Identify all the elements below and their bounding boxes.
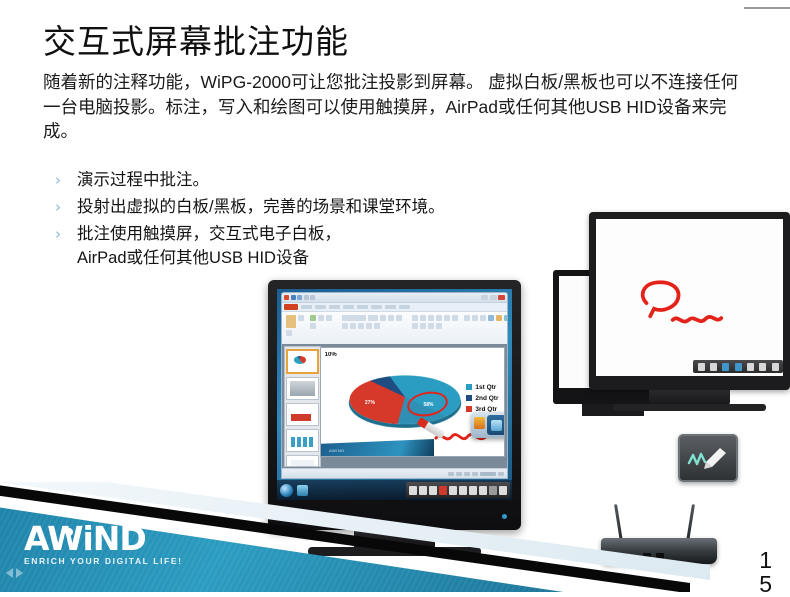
blackboard-icon[interactable] [710, 363, 717, 371]
legend-swatch-icon [466, 406, 472, 412]
numbering-icon[interactable] [420, 315, 426, 321]
port-icon [656, 553, 664, 561]
decrease-indent-icon[interactable] [428, 315, 434, 321]
chevron-down-icon[interactable] [310, 295, 315, 300]
bullets-icon[interactable] [412, 315, 418, 321]
list-item-label: 演示过程中批注。 [77, 168, 209, 192]
pie-chart-body [343, 375, 467, 423]
awind-letters-nd: ND [93, 519, 146, 558]
pie-chart [350, 372, 460, 422]
main-display-screen: 10% 27% 58% 1st Qtr 2nd Qtr [277, 289, 512, 500]
select-region-icon[interactable] [409, 486, 417, 495]
page-number: 1 5 [759, 548, 772, 596]
slide-thumbnail-pane[interactable] [284, 346, 321, 467]
reading-view-icon[interactable] [464, 472, 470, 476]
pointer-icon[interactable] [449, 486, 457, 495]
slide-thumbnail[interactable] [286, 455, 319, 467]
grid-thumb-icon [291, 437, 313, 447]
router-ports [643, 553, 664, 561]
header-rule [744, 7, 790, 9]
play-icon[interactable] [491, 420, 502, 431]
photo-thumb-icon [290, 381, 315, 396]
highlighter-icon[interactable] [479, 486, 487, 495]
awind-letter-a: A [24, 519, 47, 558]
replace-icon[interactable] [496, 315, 502, 321]
antenna-icon [614, 504, 623, 542]
whiteboard-screen [596, 219, 783, 376]
slide-thumbnail[interactable] [286, 429, 319, 452]
ribbon-group-drawing[interactable] [464, 315, 486, 321]
tab-slideshow[interactable] [371, 305, 382, 309]
awind-letter-i: i [82, 519, 92, 558]
minimize-icon[interactable] [481, 295, 488, 300]
antenna-icon [686, 504, 695, 542]
justify-icon[interactable] [420, 323, 426, 329]
powerpoint-status-bar[interactable] [282, 468, 507, 478]
main-display: 10% 27% 58% 1st Qtr 2nd Qtr [268, 280, 521, 530]
text-direction-icon[interactable] [436, 323, 442, 329]
port-icon [643, 553, 651, 561]
legend-label: 2nd Qtr [475, 395, 498, 402]
pen-icon[interactable] [429, 486, 437, 495]
bold-icon[interactable] [396, 315, 402, 321]
legend-label: 1st Qtr [475, 384, 496, 391]
color-icon[interactable] [439, 486, 447, 495]
highlighter-icon[interactable] [747, 363, 754, 371]
snapshot-icon[interactable] [419, 486, 427, 495]
color-icon[interactable] [735, 363, 742, 371]
arrange-icon[interactable] [472, 315, 478, 321]
awind-logo: AWiND ENRICH YOUR DIGITAL LIFE! [24, 522, 183, 566]
slide-thumbnail[interactable] [286, 377, 319, 400]
increase-indent-icon[interactable] [436, 315, 442, 321]
columns-icon[interactable] [428, 323, 434, 329]
product-photo: 10% 27% 58% 1st Qtr 2nd Qtr [268, 212, 790, 572]
eraser-icon[interactable] [759, 363, 766, 371]
slide-thumbnail[interactable] [286, 403, 319, 426]
floating-toolbar-buttons[interactable] [487, 415, 505, 435]
toolbar-logo-icon[interactable] [474, 417, 485, 429]
whiteboard-ink-annotation [596, 219, 783, 376]
awind-wordmark: AWiND [24, 522, 183, 555]
page-number-line-2: 5 [759, 572, 772, 596]
underline-icon[interactable] [350, 323, 356, 329]
tab-review[interactable] [385, 305, 396, 309]
ribbon-group-editing[interactable] [488, 315, 508, 321]
undo-icon[interactable] [772, 363, 779, 371]
page-number-line-1: 1 [759, 548, 772, 572]
floating-projection-toolbar[interactable] [471, 412, 505, 438]
eraser-icon[interactable] [489, 486, 497, 495]
tab-animations[interactable] [357, 305, 368, 309]
legend-entry: 2nd Qtr [466, 395, 498, 402]
paste-icon[interactable] [286, 315, 296, 328]
bar-thumb-icon [291, 414, 311, 421]
reset-icon[interactable] [326, 315, 332, 321]
undo-icon[interactable] [297, 295, 302, 300]
save-icon[interactable] [291, 295, 296, 300]
slideshow-icon[interactable] [472, 472, 478, 476]
font-color-icon[interactable] [374, 323, 380, 329]
tab-view[interactable] [399, 305, 410, 309]
awind-letter-w: W [47, 519, 82, 558]
legend-entry: 1st Qtr [466, 384, 498, 391]
align-right-icon[interactable] [412, 323, 418, 329]
tab-file[interactable] [284, 304, 298, 310]
font-size-box[interactable] [368, 315, 378, 321]
legend-swatch-icon [466, 384, 472, 390]
shapes-icon[interactable] [464, 315, 470, 321]
main-display-base [308, 547, 480, 556]
maximize-icon[interactable] [490, 295, 497, 300]
virtual-whiteboard-display [589, 212, 790, 390]
pie-thumb-icon [294, 356, 306, 364]
slide-canvas[interactable]: 10% 27% 58% 1st Qtr 2nd Qtr [320, 347, 505, 457]
cut-icon[interactable] [298, 315, 304, 321]
shrink-font-icon[interactable] [388, 315, 394, 321]
next-slide-icon[interactable] [16, 568, 23, 578]
page-title: 交互式屏幕批注功能 [43, 22, 349, 62]
font-name-box[interactable] [342, 315, 366, 321]
annotation-toolbar[interactable] [406, 482, 510, 498]
windows-taskbar[interactable] [277, 480, 512, 500]
window-titlebar[interactable] [282, 293, 507, 303]
align-left-icon[interactable] [444, 315, 450, 321]
taskbar-pinned-icon[interactable] [297, 485, 308, 496]
previous-slide-icon[interactable] [6, 568, 13, 578]
pen-icon[interactable] [722, 363, 729, 371]
legend-swatch-icon [466, 395, 472, 401]
main-display-stand [354, 529, 435, 549]
navigation-arrows[interactable] [6, 568, 23, 578]
ribbon[interactable] [282, 312, 507, 347]
pen-stroke-icon [680, 436, 736, 480]
strikethrough-icon[interactable] [366, 323, 372, 329]
powerpoint-window: 10% 27% 58% 1st Qtr 2nd Qtr [281, 292, 508, 479]
awind-tagline: ENRICH YOUR DIGITAL LIFE! [24, 556, 183, 566]
awind-dot-icon [65, 528, 73, 536]
windows-desktop: 10% 27% 58% 1st Qtr 2nd Qtr [277, 289, 512, 500]
airpad-device [678, 434, 738, 482]
save-icon[interactable] [499, 486, 507, 495]
tab-insert[interactable] [315, 305, 326, 309]
bullet-marker-icon: › [55, 168, 77, 192]
slide-footer-brand: AWIND [321, 439, 434, 456]
redo-icon[interactable] [304, 295, 309, 300]
board-icon[interactable] [698, 363, 705, 371]
quick-access-toolbar[interactable] [284, 295, 315, 300]
wireless-access-point [593, 504, 725, 564]
slide-thumbnail[interactable] [286, 349, 319, 374]
router-body [601, 538, 717, 564]
ribbon-group-font[interactable] [342, 315, 406, 329]
powerpoint-workspace: 10% 27% 58% 1st Qtr 2nd Qtr [282, 344, 507, 469]
bullet-marker-icon: › [55, 222, 77, 246]
align-center-icon[interactable] [452, 315, 458, 321]
find-icon[interactable] [488, 315, 494, 321]
new-slide-icon[interactable] [310, 315, 316, 321]
list-item: › 演示过程中批注。 [55, 168, 655, 192]
italic-icon[interactable] [342, 323, 348, 329]
whiteboard-toolbar[interactable] [693, 360, 783, 373]
close-icon[interactable] [498, 295, 505, 300]
office-orb-icon[interactable] [284, 295, 289, 300]
tab-design[interactable] [329, 305, 340, 309]
hand-icon[interactable] [469, 486, 477, 495]
tab-home[interactable] [301, 305, 312, 309]
blank-thumb-icon [291, 460, 314, 467]
quick-styles-icon[interactable] [480, 315, 486, 321]
slide-footer-logo-text: AWIND [329, 448, 345, 453]
layout-icon[interactable] [318, 315, 324, 321]
select-icon[interactable] [504, 315, 508, 321]
window-controls[interactable] [481, 295, 505, 300]
pie-label-outside: 10% [325, 352, 337, 358]
power-led-icon [502, 514, 507, 519]
ribbon-group-clipboard[interactable] [286, 315, 304, 336]
tab-transitions[interactable] [343, 305, 354, 309]
fit-window-icon[interactable] [498, 472, 504, 476]
start-button-icon[interactable] [280, 484, 293, 497]
section-icon[interactable] [310, 323, 316, 329]
ribbon-group-paragraph[interactable] [412, 315, 458, 329]
normal-view-icon[interactable] [448, 472, 454, 476]
body-paragraph: 随着新的注释功能，WiPG-2000可让您批注投影到屏幕。 虚拟白板/黑板也可以… [43, 70, 755, 144]
zoom-slider[interactable] [480, 472, 496, 476]
ribbon-group-slides[interactable] [310, 315, 336, 329]
copy-icon[interactable] [286, 330, 292, 336]
shadow-icon[interactable] [358, 323, 364, 329]
grow-font-icon[interactable] [380, 315, 386, 321]
pie-label-red-slice: 27% [365, 400, 375, 406]
bullet-marker-icon: › [55, 195, 77, 219]
whiteboard-base [613, 404, 766, 411]
pie-label-circled: 58% [423, 402, 433, 408]
zoom-icon[interactable] [459, 486, 467, 495]
sorter-view-icon[interactable] [456, 472, 462, 476]
ribbon-tabs[interactable] [282, 303, 507, 312]
